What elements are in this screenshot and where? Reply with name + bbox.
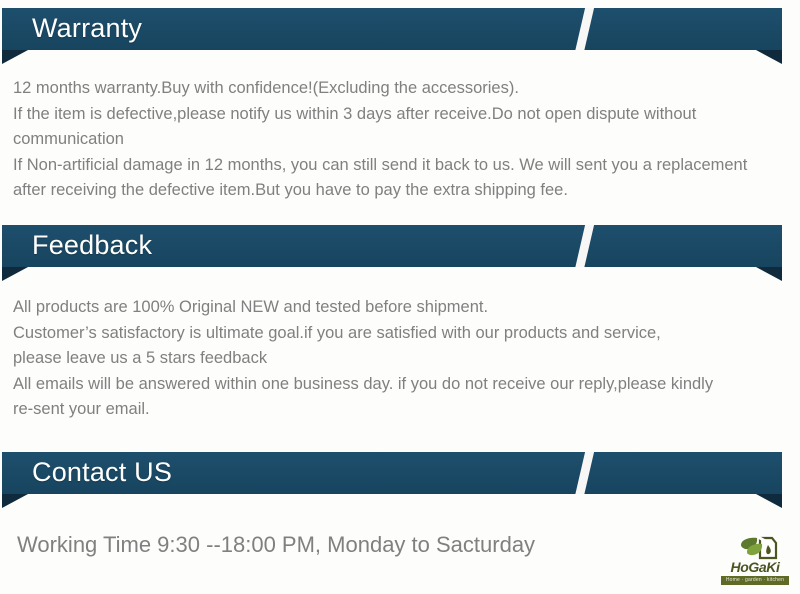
banner-contact-bar: Contact US (2, 452, 782, 494)
banner-fold-right-icon (756, 494, 782, 508)
brand-logo: HoGaKi Home · garden · kitchen (718, 536, 792, 588)
leaf-house-icon (738, 536, 778, 560)
banner-fold-right-icon (756, 267, 782, 281)
warranty-line-4: If Non-artificial damage in 12 months, y… (13, 153, 783, 179)
warranty-line-3: communication (13, 127, 783, 153)
section-title-warranty: Warranty (32, 13, 142, 44)
banner-fold-left-icon (2, 494, 28, 508)
slash-decoration-icon (574, 452, 596, 494)
feedback-line-4: All emails will be answered within one b… (13, 372, 783, 398)
working-time-line: Working Time 9:30 --18:00 PM, Monday to … (17, 529, 787, 561)
section-title-feedback: Feedback (32, 230, 152, 261)
banner-warranty: Warranty (0, 0, 800, 64)
feedback-body: All products are 100% Original NEW and t… (13, 295, 783, 423)
warranty-feedback-contact-page: Warranty 12 months warranty.Buy with con… (0, 0, 800, 594)
logo-tagline: Home · garden · kitchen (721, 576, 789, 585)
contact-body: Working Time 9:30 --18:00 PM, Monday to … (17, 529, 787, 561)
warranty-line-5: after receiving the defective item.But y… (13, 178, 783, 204)
section-title-contact: Contact US (32, 457, 172, 488)
banner-fold-left-icon (2, 50, 28, 64)
banner-contact: Contact US (0, 444, 800, 508)
feedback-line-1: All products are 100% Original NEW and t… (13, 295, 783, 321)
slash-decoration-icon (574, 8, 596, 50)
section-feedback: Feedback All products are 100% Original … (0, 217, 800, 281)
warranty-line-2: If the item is defective,please notify u… (13, 102, 783, 128)
section-warranty: Warranty 12 months warranty.Buy with con… (0, 0, 800, 64)
feedback-line-2: Customer’s satisfactory is ultimate goal… (13, 321, 783, 347)
warranty-body: 12 months warranty.Buy with confidence!(… (13, 76, 783, 204)
slash-decoration-icon (574, 225, 596, 267)
banner-warranty-bar: Warranty (2, 8, 782, 50)
feedback-line-5: re-sent your email. (13, 397, 783, 423)
warranty-line-1: 12 months warranty.Buy with confidence!(… (13, 76, 783, 102)
banner-fold-left-icon (2, 267, 28, 281)
logo-wordmark: HoGaKi (718, 560, 792, 575)
section-contact: Contact US Working Time 9:30 --18:00 PM,… (0, 444, 800, 508)
banner-feedback: Feedback (0, 217, 800, 281)
feedback-line-3: please leave us a 5 stars feedback (13, 346, 783, 372)
banner-feedback-bar: Feedback (2, 225, 782, 267)
banner-fold-right-icon (756, 50, 782, 64)
